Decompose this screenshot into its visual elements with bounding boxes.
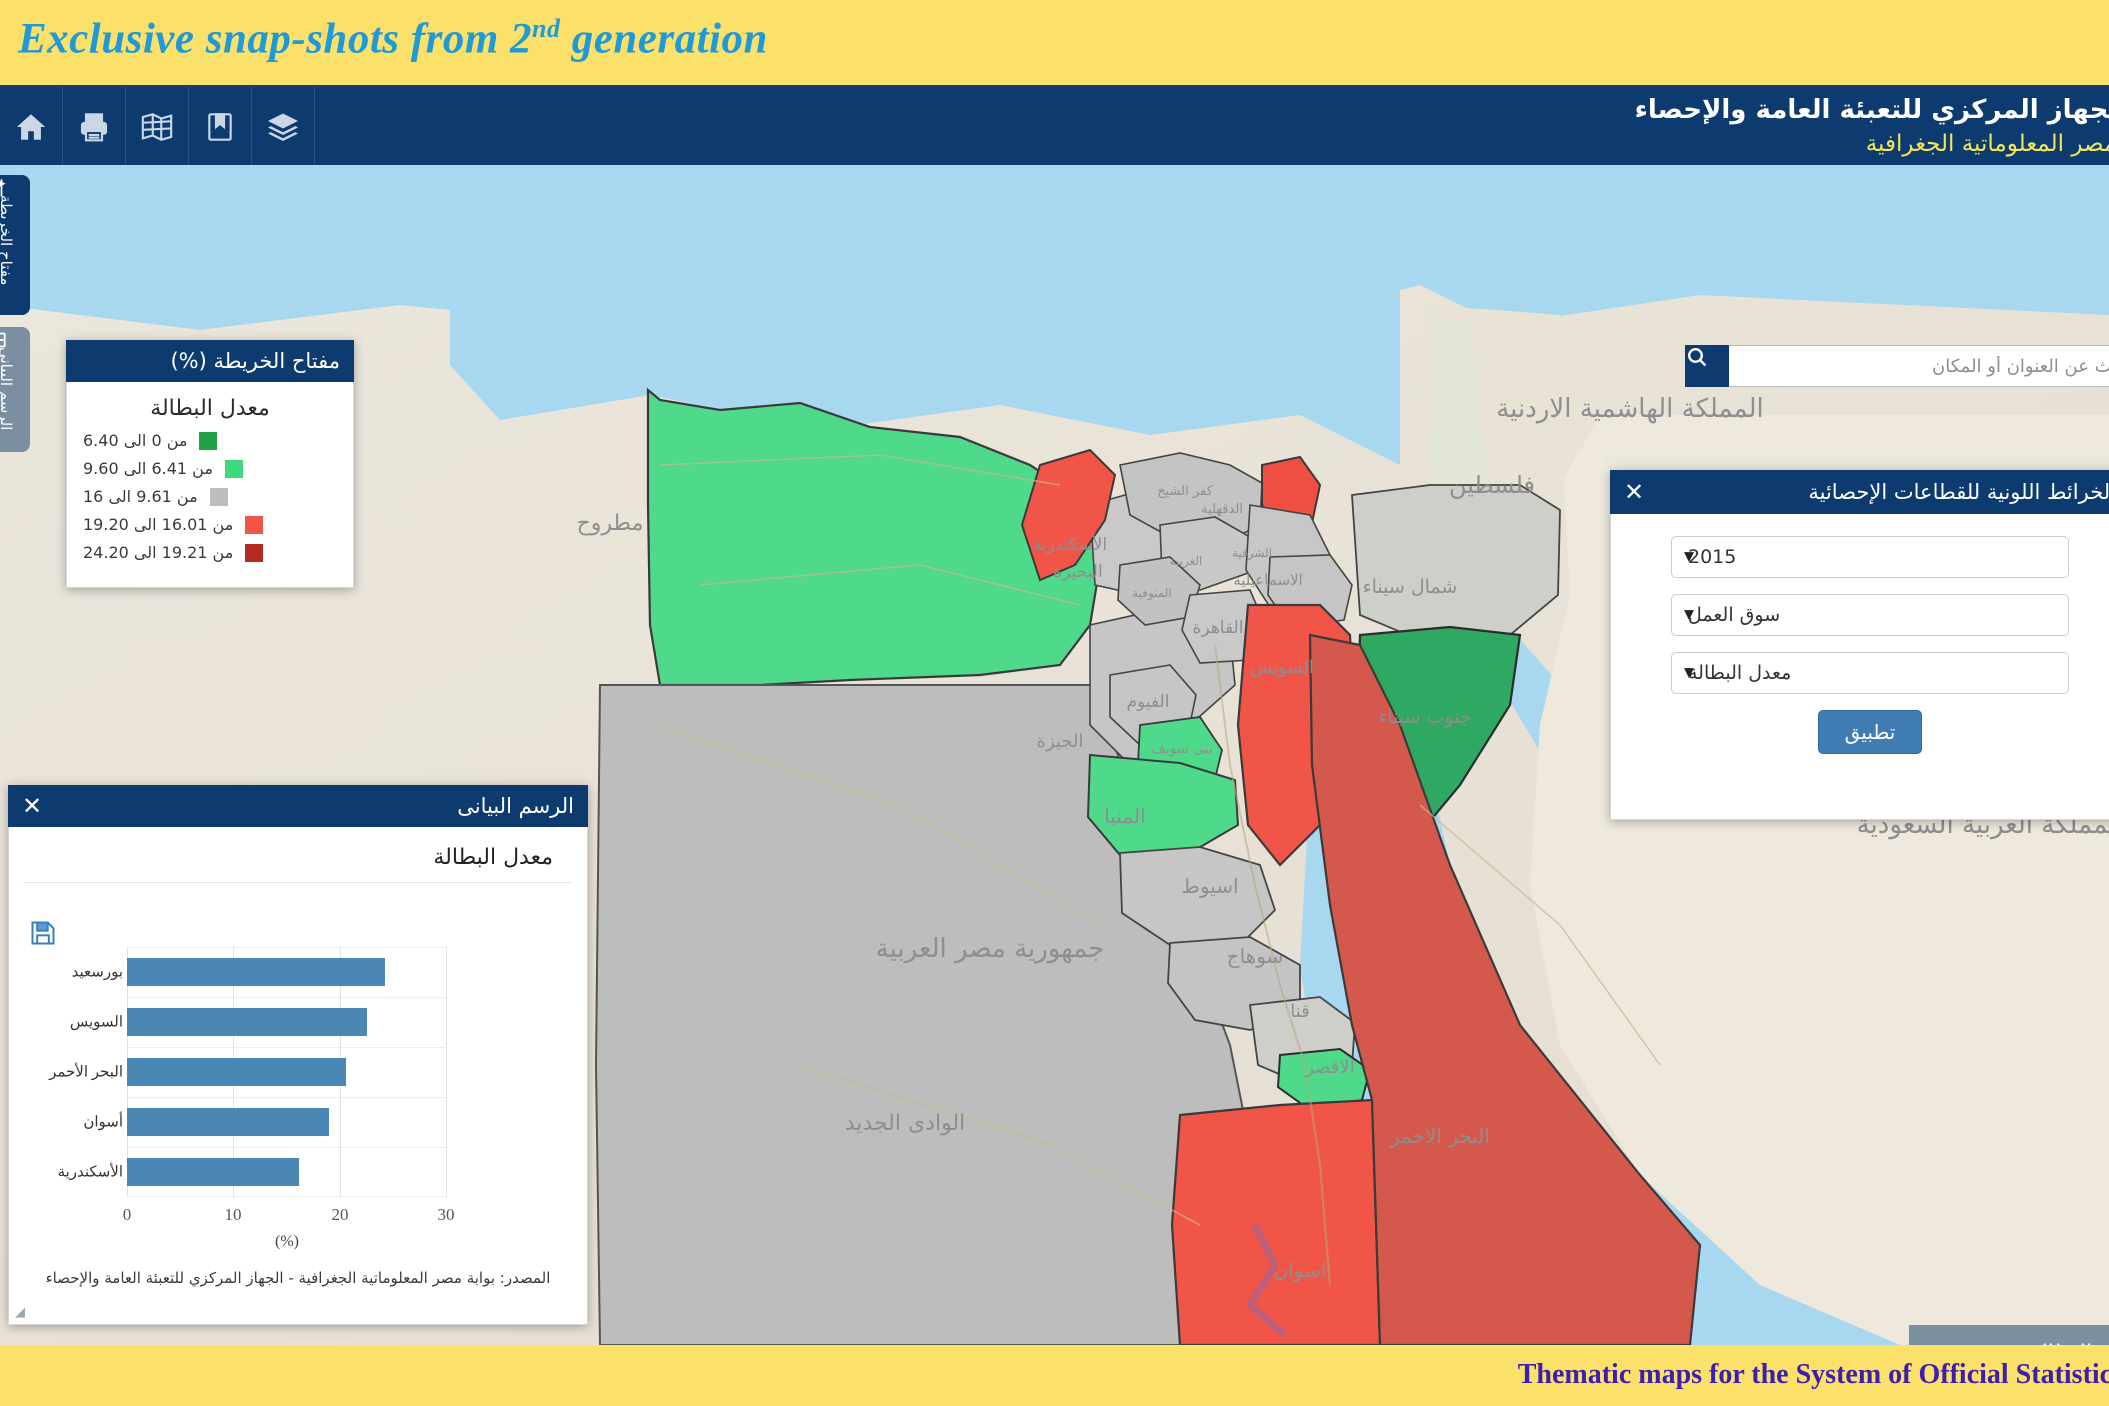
main-toolbar bbox=[0, 87, 315, 167]
legend-item-label: من 0 الى 6.40 bbox=[83, 431, 187, 450]
chart-category-label: البحر الأحمر bbox=[49, 1063, 123, 1082]
legend-panel-header: مفتاح الخريطة (%) bbox=[66, 340, 354, 382]
thematic-panel-title: الخرائط اللونية للقطاعات الإحصائية bbox=[1808, 480, 2109, 504]
chevron-down-icon: ▼ bbox=[1684, 666, 1694, 681]
chart-plot-area: بورسعيد السويس البحر الأحمر أسوان الأسكن… bbox=[9, 947, 589, 1247]
home-icon bbox=[14, 110, 48, 144]
legend-item: من 0 الى 6.40 bbox=[83, 431, 337, 450]
chart-body: معدل البطالة بورسعيد السويس البحر الأحمر bbox=[8, 827, 588, 1325]
legend-item-label: من 19.21 الى 24.20 bbox=[83, 543, 233, 562]
print-icon bbox=[78, 111, 110, 143]
chart-axis-title: (%) bbox=[275, 1233, 299, 1251]
map-label-gharbia: الغربية bbox=[1170, 554, 1203, 569]
legend-subtitle: معدل البطالة bbox=[83, 396, 337, 421]
map-label-ismailia: الاسماعيلية bbox=[1233, 571, 1303, 589]
map-label-new-valley: الوادى الجديد bbox=[845, 1111, 966, 1136]
search-box bbox=[1685, 345, 2109, 387]
search-input[interactable] bbox=[1729, 345, 2109, 387]
map-label-aswan: اسوان bbox=[1274, 1258, 1327, 1282]
header-title-main: الجهاز المركزي للتعبئة العامة والإحصاء bbox=[1635, 95, 2109, 125]
chart-bar bbox=[127, 1058, 346, 1086]
map-label-asyut: اسيوط bbox=[1181, 874, 1238, 898]
legend-item-label: من 6.41 الى 9.60 bbox=[83, 459, 213, 478]
map-label-matrouh: مطروح bbox=[577, 511, 644, 536]
map-label-red-sea: البحر الاحمر bbox=[1389, 1124, 1490, 1148]
chart-panel: الرسم البيانى ✕ معدل البطالة بورسعيد bbox=[8, 785, 588, 1325]
chart-heading: معدل البطالة bbox=[23, 827, 573, 883]
close-icon[interactable]: ✕ bbox=[22, 794, 42, 818]
banner-text-after: generation bbox=[561, 15, 768, 62]
map-icon bbox=[140, 110, 174, 144]
chart-category-label: الأسكندرية bbox=[58, 1163, 123, 1182]
bookmark-icon bbox=[204, 111, 236, 143]
map-label-beheira: البحيرة bbox=[1053, 562, 1102, 582]
legend-swatch bbox=[199, 432, 217, 450]
map-label-giza: الجيزة bbox=[1037, 731, 1084, 752]
map-label-qena: قنا bbox=[1290, 1001, 1310, 1022]
chart-xtick: 0 bbox=[123, 1205, 132, 1225]
thematic-panel-header: الخرائط اللونية للقطاعات الإحصائية ✕ bbox=[1610, 470, 2109, 514]
chevron-down-icon: ▼ bbox=[1684, 608, 1694, 623]
legend-panel-title: مفتاح الخريطة (%) bbox=[170, 349, 340, 373]
map-label-menoufia: المنوفية bbox=[1132, 586, 1172, 601]
legend-item: من 19.21 الى 24.20 bbox=[83, 543, 337, 562]
indicator-select[interactable]: معدل البطالة ▼ bbox=[1671, 652, 2069, 694]
year-select-value: 2015 bbox=[1688, 546, 1736, 568]
close-icon[interactable]: ✕ bbox=[1624, 480, 1644, 504]
legend-body: معدل البطالة من 0 الى 6.40 من 6.41 الى 9… bbox=[66, 382, 354, 588]
banner-title: Exclusive snap-shots from 2nd generation bbox=[18, 14, 768, 63]
legend-swatch bbox=[245, 544, 263, 562]
chart-xtick: 10 bbox=[225, 1205, 242, 1225]
home-button[interactable] bbox=[0, 87, 63, 167]
legend-item-label: من 9.61 الى 16 bbox=[83, 487, 198, 506]
vertical-tab-legend[interactable]: مفتاح الخريطة bbox=[0, 175, 30, 315]
map-label-cairo: القاهرة bbox=[1193, 618, 1244, 638]
map-label-beni-suef: بنى سويف bbox=[1151, 741, 1213, 757]
legend-panel: مفتاح الخريطة (%) معدل البطالة من 0 الى … bbox=[66, 340, 354, 588]
legend-swatch bbox=[210, 488, 228, 506]
banner-superscript: nd bbox=[532, 14, 560, 43]
bookmark-button[interactable] bbox=[189, 87, 252, 167]
sector-select[interactable]: سوق العمل ▼ bbox=[1671, 594, 2069, 636]
chart-bar bbox=[127, 958, 385, 986]
footer-title: Thematic maps for the System of Official… bbox=[1518, 1359, 2109, 1391]
chart-panel-title: الرسم البيانى bbox=[457, 794, 574, 818]
application-root: Exclusive snap-shots from 2nd generation bbox=[0, 0, 2109, 1406]
chart-xtick: 30 bbox=[438, 1205, 455, 1225]
search-button[interactable] bbox=[1685, 345, 1729, 387]
indicator-select-value: معدل البطالة bbox=[1688, 662, 1791, 684]
thematic-panel-body: 2015 ▼ سوق العمل ▼ معدل البطالة ▼ تطبيق bbox=[1610, 514, 2109, 820]
vertical-tab-legend-label: مفتاح الخريطة bbox=[0, 195, 15, 285]
chart-bar bbox=[127, 1008, 367, 1036]
vertical-tab-chart[interactable]: الرسم البيانى bbox=[0, 327, 30, 452]
chevron-down-icon: ▼ bbox=[1684, 550, 1694, 565]
header-title-sub: بوابة مصر المعلوماتية الجغرافية bbox=[1635, 131, 2109, 157]
chart-category-labels: بورسعيد السويس البحر الأحمر أسوان الأسكن… bbox=[37, 947, 123, 1197]
legend-swatch bbox=[225, 460, 243, 478]
vertical-tab-chart-label: الرسم البيانى bbox=[0, 347, 15, 430]
header-titles: الجهاز المركزي للتعبئة العامة والإحصاء ب… bbox=[1635, 95, 2109, 157]
legend-item: من 9.61 الى 16 bbox=[83, 487, 337, 506]
chart-bar bbox=[127, 1108, 329, 1136]
map-label-south-sinai: جنوب سيناء bbox=[1378, 706, 1471, 728]
top-banner: Exclusive snap-shots from 2nd generation bbox=[0, 0, 2109, 85]
banner-text-before: Exclusive snap-shots from 2 bbox=[18, 15, 532, 62]
chart-panel-header: الرسم البيانى ✕ bbox=[8, 785, 588, 827]
chart-category-label: السويس bbox=[70, 1013, 123, 1032]
chart-category-label: أسوان bbox=[83, 1113, 123, 1132]
map-label-dakahlia: الدقهلية bbox=[1201, 502, 1243, 517]
layers-button[interactable] bbox=[252, 87, 315, 167]
legend-item-label: من 16.01 الى 19.20 bbox=[83, 515, 233, 534]
layers-icon bbox=[265, 109, 301, 145]
map-label-fayoum: الفيوم bbox=[1127, 692, 1170, 712]
map-button[interactable] bbox=[126, 87, 189, 167]
map-label-jordan: المملكة الهاشمية الاردنية bbox=[1496, 394, 1764, 424]
map-label-palestine: فلسطين bbox=[1449, 471, 1535, 499]
map-label-north-sinai: شمال سيناء bbox=[1363, 576, 1458, 598]
chart-xtick: 20 bbox=[332, 1205, 349, 1225]
map-label-sharqia: الشرقية bbox=[1232, 546, 1272, 561]
thematic-panel: الخرائط اللونية للقطاعات الإحصائية ✕ 201… bbox=[1610, 470, 2109, 820]
chart-source-note: المصدر: بوابة مصر المعلوماتية الجغرافية … bbox=[9, 1269, 587, 1287]
active-indicator-label: معدل البطالة bbox=[1909, 1325, 2109, 1345]
map-label-suez: السويس bbox=[1250, 657, 1314, 678]
app-header: الجهاز المركزي للتعبئة العامة والإحصاء ب… bbox=[0, 85, 2109, 165]
sector-select-value: سوق العمل bbox=[1688, 604, 1780, 626]
map-label-sohag: سوهاج bbox=[1227, 944, 1284, 968]
legend-swatch bbox=[245, 516, 263, 534]
map-label-egypt: جمهورية مصر العربية bbox=[876, 934, 1105, 964]
chart-category-label: بورسعيد bbox=[72, 963, 123, 982]
map-canvas[interactable]: مطروح الأسكندرية البحيرة كفر الشيخ الدقه… bbox=[0, 165, 2109, 1345]
map-label-minya: المنيا bbox=[1104, 804, 1145, 828]
legend-item: من 6.41 الى 9.60 bbox=[83, 459, 337, 478]
map-label-alexandria: الأسكندرية bbox=[1033, 534, 1107, 555]
footer-banner: Thematic maps for the System of Official… bbox=[0, 1345, 2109, 1406]
apply-button[interactable]: تطبيق bbox=[1818, 710, 1923, 754]
chart-bars: 0 10 20 30 (%) bbox=[127, 947, 447, 1197]
year-select[interactable]: 2015 ▼ bbox=[1671, 536, 2069, 578]
resize-handle-icon[interactable]: ◢ bbox=[15, 1305, 25, 1320]
map-label-luxor: الاقصر bbox=[1304, 1057, 1354, 1078]
chart-bar bbox=[127, 1158, 299, 1186]
map-label-kafr-elsheikh: كفر الشيخ bbox=[1157, 484, 1213, 499]
legend-item: من 16.01 الى 19.20 bbox=[83, 515, 337, 534]
print-button[interactable] bbox=[63, 87, 126, 167]
